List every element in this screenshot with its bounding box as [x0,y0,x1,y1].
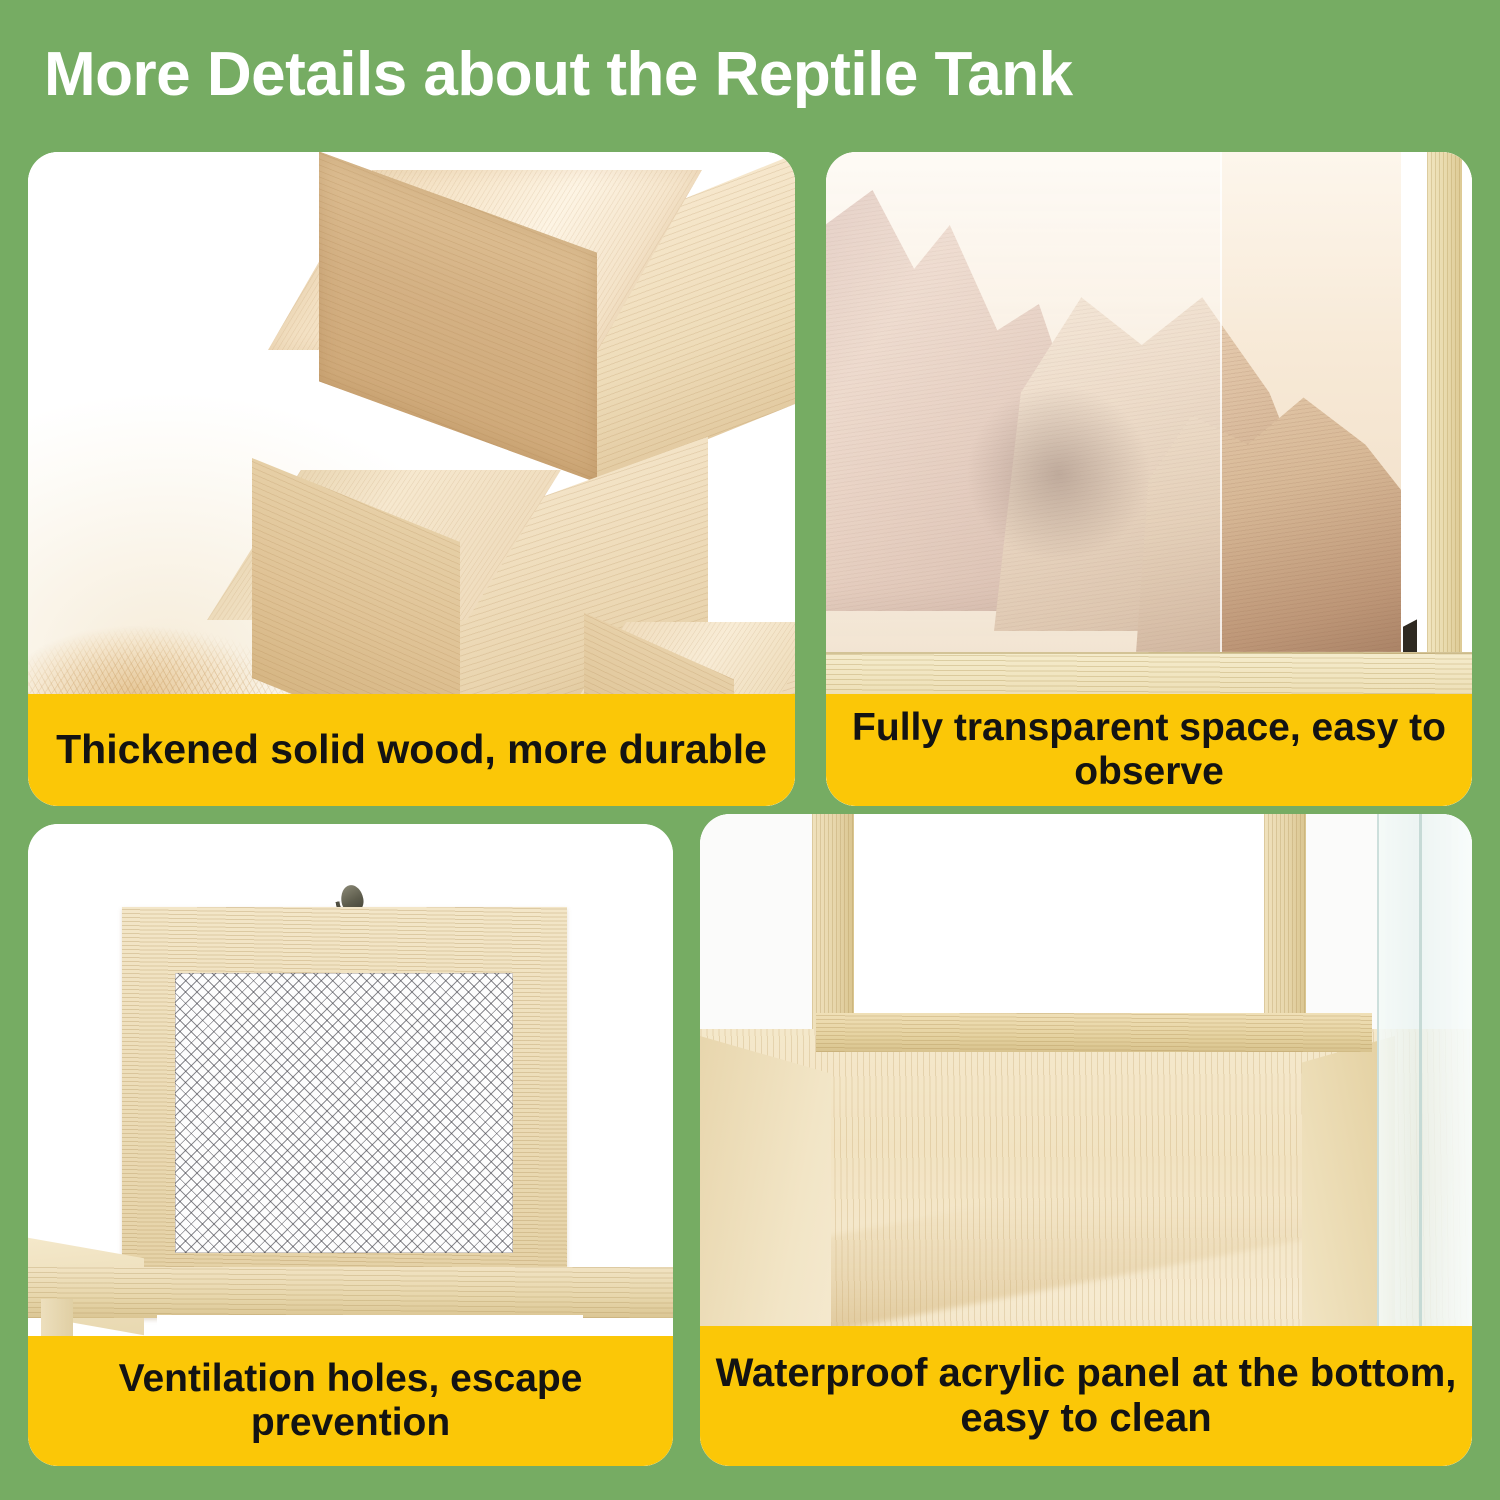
acrylic-front-pane [826,152,1222,662]
feature-card-waterproof-acrylic-panel: Waterproof acrylic panel at the bottom, … [700,814,1472,1466]
feature-card-fully-transparent-space: Fully transparent space, easy to observe [826,152,1472,806]
feature-card-thickened-solid-wood: Thickened solid wood, more durable [28,152,795,806]
wire-mesh-screen [175,973,513,1252]
feature-caption-banner: Waterproof acrylic panel at the bottom, … [700,1326,1472,1466]
wooden-frame-right [1427,152,1463,728]
hinged-mesh-lid [122,907,567,1318]
floor-rail-back [816,1013,1372,1052]
feature-caption-text: Ventilation holes, escape prevention [28,1357,673,1444]
background-white-window [854,814,1302,1029]
page-header: More Details about the Reptile Tank [0,0,1500,150]
feature-caption-text: Thickened solid wood, more durable [42,727,781,773]
feature-caption-banner: Fully transparent space, easy to observe [826,694,1472,806]
feature-caption-banner: Thickened solid wood, more durable [28,694,795,806]
feature-caption-text: Waterproof acrylic panel at the bottom, … [700,1351,1472,1441]
feature-card-ventilation-holes: Ventilation holes, escape prevention [28,824,673,1466]
feature-caption-banner: Ventilation holes, escape prevention [28,1336,673,1466]
tank-body-top-rail [28,1267,673,1318]
page-title: More Details about the Reptile Tank [44,44,1073,106]
feature-caption-text: Fully transparent space, easy to observe [826,706,1472,793]
floor-light-reflection [762,1141,1318,1345]
